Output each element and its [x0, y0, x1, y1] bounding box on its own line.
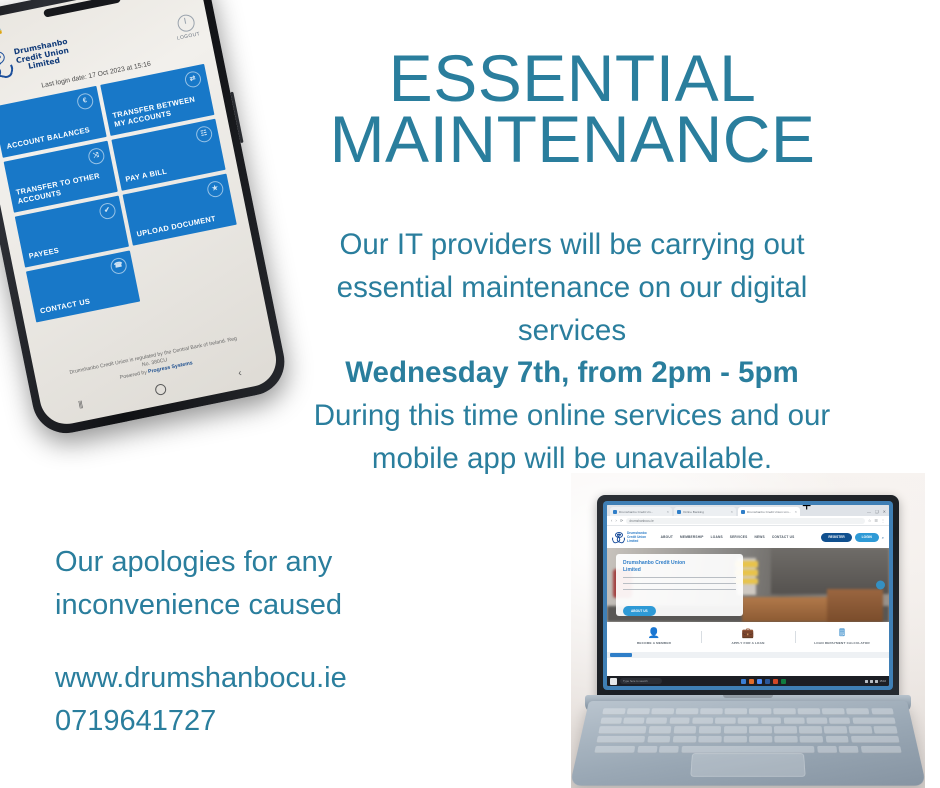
key: [822, 708, 845, 715]
extensions-icon[interactable]: ☰: [874, 518, 878, 523]
maintenance-window: Wednesday 7th, from 2pm - 5pm: [283, 352, 861, 395]
person-icon: 👤: [609, 629, 699, 639]
key: [800, 736, 823, 743]
close-icon[interactable]: ×: [667, 509, 669, 514]
tile-label: CONTACT US: [39, 296, 91, 315]
website-nav-links: ABOUT MEMBERSHIP LOANS SERVICES NEWS CON…: [661, 535, 795, 539]
key: [824, 727, 847, 734]
key: [784, 717, 805, 724]
laptop-device: Drumshanbo Credit Un... × Online Banking…: [585, 495, 911, 785]
laptop-trackpad: [690, 753, 805, 777]
windows-start-icon[interactable]: [610, 678, 617, 685]
key: [700, 708, 722, 715]
new-tab-icon[interactable]: +: [802, 505, 811, 516]
spacer: [55, 627, 455, 657]
nav-link-membership[interactable]: MEMBERSHIP: [680, 535, 704, 539]
phone-number[interactable]: 0719641727: [55, 700, 455, 743]
body-line-3: services: [283, 310, 861, 353]
credit-union-hands-icon: [612, 531, 625, 544]
website-brand-name: Drumshanbo Credit Union Limited: [627, 531, 647, 543]
key-backspace: [852, 717, 896, 724]
hero-photo-wall: [771, 548, 889, 594]
calculator-icon: 🖩: [797, 629, 887, 639]
back-icon[interactable]: ‹: [611, 518, 612, 523]
key: [724, 736, 747, 743]
body-line-4: During this time online services and our: [283, 395, 861, 438]
key: [774, 727, 797, 734]
hero-title-line-1: Drumshanbo Credit Union: [623, 560, 685, 566]
nav-link-loans[interactable]: LOANS: [711, 535, 723, 539]
key: [637, 746, 657, 753]
taskbar-search-input[interactable]: Type here to search: [620, 678, 662, 684]
page-title: ESSENTIAL MAINTENANCE: [265, 48, 880, 169]
keyboard-row: [600, 717, 895, 724]
brand-line-3: Limited: [627, 539, 647, 543]
bookmark-icon[interactable]: ☆: [868, 518, 872, 523]
tile-label: PAY A BILL: [125, 166, 168, 183]
key: [825, 736, 849, 743]
taskbar-icon-outlook[interactable]: [773, 679, 778, 684]
browser-tab[interactable]: Drumshanbo Credit Un... ×: [610, 507, 672, 516]
key-caps: [596, 736, 645, 743]
key: [774, 708, 796, 715]
browser-toolbar-icons: ☆ ☰ ⋮: [868, 518, 885, 523]
feature-label: BECOME A MEMBER: [609, 641, 699, 645]
browser-tab-strip: Drumshanbo Credit Un... × Online Banking…: [607, 505, 889, 516]
menu-icon[interactable]: ⋮: [881, 518, 885, 523]
hero-photo-counter: [827, 589, 883, 622]
url-input[interactable]: drumshanbocu.ie: [626, 518, 864, 524]
key: [724, 727, 747, 734]
nav-link-services[interactable]: SERVICES: [730, 535, 748, 539]
home-icon[interactable]: [154, 383, 167, 396]
nav-link-about[interactable]: ABOUT: [661, 535, 673, 539]
nav-link-news[interactable]: NEWS: [754, 535, 764, 539]
key: [692, 717, 713, 724]
tab-label: Drumshanbo Credit Union Lim...: [747, 510, 791, 514]
website-hero: Drumshanbo Credit Union Limited ABOUT US: [607, 548, 889, 622]
favicon-icon: [741, 510, 745, 514]
key: [623, 717, 644, 724]
taskbar-icon-excel[interactable]: [781, 679, 786, 684]
login-button[interactable]: LOGIN: [855, 533, 879, 542]
apology-line-2: inconvenience caused: [55, 584, 455, 627]
contact-block: Our apologies for any inconvenience caus…: [55, 541, 455, 743]
key: [798, 708, 820, 715]
keyboard-row: [602, 708, 894, 715]
upload-icon: ★: [206, 180, 225, 199]
app-brand-name: Drumshanbo Credit Union Limited: [13, 37, 72, 74]
browser-tab-active[interactable]: Drumshanbo Credit Union Lim... ×: [738, 507, 800, 516]
browser-address-bar: ‹ › ⟳ drumshanbocu.ie ☆ ☰ ⋮: [607, 516, 889, 526]
feature-label: APPLY FOR A LOAN: [703, 641, 793, 645]
feature-become-a-member[interactable]: 👤 BECOME A MEMBER: [607, 629, 701, 645]
key: [738, 717, 758, 724]
feature-apply-for-a-loan[interactable]: 💼 APPLY FOR A LOAN: [701, 629, 795, 645]
phone-power-button: [230, 92, 243, 144]
website-navbar: Drumshanbo Credit Union Limited ABOUT ME…: [607, 526, 889, 548]
phone-screen: 5:47 🔒 Drumshanbo Credit Union Li: [0, 0, 281, 429]
apology-line-1: Our apologies for any: [55, 541, 455, 584]
tab-label: Online Banking: [683, 510, 704, 514]
taskbar-icon-firefox[interactable]: [749, 679, 754, 684]
payees-icon: ✔: [98, 202, 117, 221]
close-icon[interactable]: ×: [731, 509, 733, 514]
maximize-icon[interactable]: ❑: [875, 509, 879, 514]
key: [674, 727, 697, 734]
key: [715, 717, 736, 724]
bill-icon: ☷: [195, 125, 214, 144]
key: [725, 708, 747, 715]
key: [775, 736, 798, 743]
logo-hand-right: [0, 59, 15, 79]
key: [600, 717, 622, 724]
taskbar-icon-word[interactable]: [765, 679, 770, 684]
app-logo: Drumshanbo Credit Union Limited: [0, 36, 72, 83]
minimize-icon[interactable]: —: [867, 509, 871, 514]
feature-label: LOAN REPAYMENT CALCULATOR: [797, 641, 887, 645]
key: [627, 708, 650, 715]
hero-body-text: [623, 577, 736, 595]
laptop-screen: Drumshanbo Credit Un... × Online Banking…: [607, 505, 889, 686]
hero-card: Drumshanbo Credit Union Limited ABOUT US: [616, 554, 743, 616]
key: [749, 727, 772, 734]
forward-icon[interactable]: ›: [615, 518, 616, 523]
laptop-bezel: Drumshanbo Credit Un... × Online Banking…: [603, 501, 893, 690]
chevron-right-icon[interactable]: [876, 581, 885, 590]
website-logo[interactable]: Drumshanbo Credit Union Limited: [612, 531, 647, 544]
key: [676, 708, 698, 715]
key: [651, 708, 674, 715]
transfer-icon: ⇄: [184, 70, 203, 89]
wallet-icon: 💼: [703, 629, 793, 639]
keyboard-row: [594, 746, 901, 753]
taskbar-clock: 15:16: [880, 680, 887, 683]
key: [749, 708, 771, 715]
close-window-icon[interactable]: ✕: [883, 509, 886, 514]
logout-label: LOGOUT: [176, 31, 200, 42]
search-icon[interactable]: ⌕: [882, 535, 884, 540]
key-enter: [851, 736, 900, 743]
key: [799, 727, 822, 734]
power-icon: [176, 13, 196, 33]
tab-label: Drumshanbo Credit Un...: [619, 510, 653, 514]
headline-line-1: ESSENTIAL: [265, 48, 880, 109]
app-tile-grid: € ACCOUNT BALANCES ⇄ TRANSFER BETWEEN MY…: [0, 64, 248, 323]
phone-icon: ☎: [109, 257, 128, 276]
download-app-strip[interactable]: [607, 652, 889, 658]
recents-icon[interactable]: ⦀: [78, 399, 85, 411]
key-tab: [598, 727, 646, 734]
body-line-1: Our IT providers will be carrying out: [283, 224, 861, 267]
body-line-2: essential maintenance on our digital: [283, 267, 861, 310]
laptop-lid: Drumshanbo Credit Un... × Online Banking…: [597, 495, 899, 700]
key: [761, 717, 782, 724]
key: [698, 736, 721, 743]
hero-title: Drumshanbo Credit Union Limited: [623, 560, 736, 573]
key: [646, 717, 667, 724]
key: [749, 736, 772, 743]
laptop-mockup: Drumshanbo Credit Un... × Online Banking…: [571, 473, 925, 788]
close-icon[interactable]: ×: [795, 509, 797, 514]
key-space: [681, 746, 815, 753]
key-shift-right: [860, 746, 901, 753]
phone-body: 5:47 🔒 Drumshanbo Credit Union Li: [0, 0, 290, 439]
keyboard-row: [596, 736, 899, 743]
maintenance-notice-poster: 5:47 🔒 Drumshanbo Credit Union Li: [0, 0, 940, 788]
website-cta-group: REGISTER LOGIN ⌕: [821, 533, 884, 542]
key: [602, 708, 625, 715]
back-icon[interactable]: ‹: [237, 367, 242, 378]
notice-body: Our IT providers will be carrying out es…: [283, 224, 861, 481]
tray-icon-battery[interactable]: [875, 680, 878, 683]
hero-about-button[interactable]: ABOUT US: [623, 606, 656, 616]
key: [871, 708, 894, 715]
key-shift: [594, 746, 635, 753]
key: [849, 727, 873, 734]
keyboard-row: [598, 727, 897, 734]
download-app-chip: [610, 653, 632, 657]
tray-icon-volume[interactable]: [870, 680, 873, 683]
browser-tab[interactable]: Online Banking ×: [674, 507, 736, 516]
euro-icon: €: [76, 92, 95, 111]
key: [699, 727, 722, 734]
hero-title-line-2: Limited: [623, 567, 641, 573]
key: [659, 746, 679, 753]
website-feature-row: 👤 BECOME A MEMBER 💼 APPLY FOR A LOAN 🖩 L…: [607, 622, 889, 652]
window-controls: — ❑ ✕: [867, 509, 886, 516]
tile-label: PAYEES: [28, 245, 60, 260]
laptop-deck: [571, 701, 925, 786]
key: [839, 746, 859, 753]
key: [829, 717, 850, 724]
phone-mockup: 5:47 🔒 Drumshanbo Credit Union Li: [0, 0, 290, 439]
laptop-lid-notch: [723, 695, 773, 698]
key: [817, 746, 837, 753]
key: [806, 717, 827, 724]
taskbar-icon-explorer[interactable]: [741, 679, 746, 684]
reload-icon[interactable]: ⟳: [620, 518, 624, 523]
register-button[interactable]: REGISTER: [821, 533, 851, 542]
laptop-keyboard: [594, 708, 901, 753]
lock-icon: 🔒: [0, 28, 4, 35]
key: [669, 717, 690, 724]
key: [673, 736, 696, 743]
logo-hand-right: [616, 533, 626, 543]
logout-button[interactable]: LOGOUT: [173, 12, 201, 41]
taskbar-icon-chrome[interactable]: [757, 679, 762, 684]
key: [648, 727, 671, 734]
key: [874, 727, 898, 734]
credit-union-hands-icon: [0, 47, 15, 82]
nav-link-contact-us[interactable]: CONTACT US: [772, 535, 795, 539]
feature-loan-repayment-calculator[interactable]: 🖩 LOAN REPAYMENT CALCULATOR: [795, 629, 889, 645]
tray-icon-network[interactable]: [865, 680, 868, 683]
website-url[interactable]: www.drumshanbocu.ie: [55, 657, 455, 700]
taskbar-app-icons: [741, 679, 786, 684]
swap-icon: ⤨: [87, 147, 106, 166]
favicon-icon: [677, 510, 681, 514]
key: [846, 708, 869, 715]
taskbar-system-tray: 15:16: [865, 680, 887, 683]
favicon-icon: [613, 510, 617, 514]
key: [647, 736, 671, 743]
headline-line-2: MAINTENANCE: [265, 109, 880, 170]
windows-taskbar: Type here to search: [607, 676, 889, 686]
